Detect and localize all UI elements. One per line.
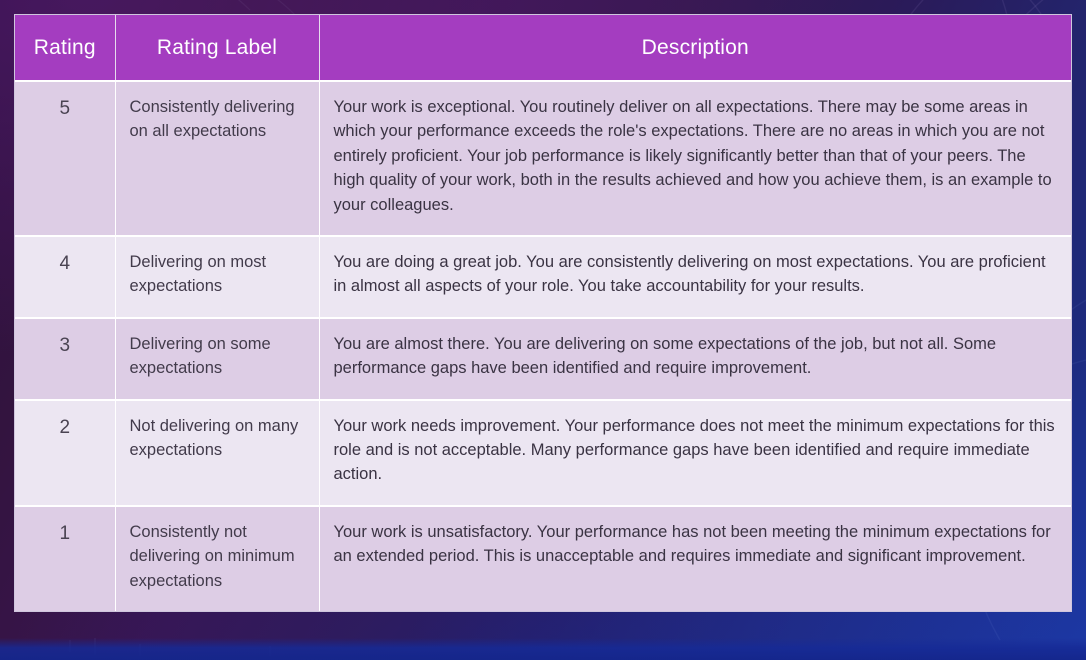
table-row: 4 Delivering on most expectations You ar… (15, 236, 1071, 318)
cell-rating: 1 (15, 506, 115, 611)
cell-rating: 2 (15, 400, 115, 506)
cell-rating-label: Not delivering on many expectations (115, 400, 319, 506)
cell-description: You are doing a great job. You are consi… (319, 236, 1071, 318)
cell-description: Your work is exceptional. You routinely … (319, 81, 1071, 236)
cell-rating-label: Delivering on most expectations (115, 236, 319, 318)
rating-scale-table: Rating Rating Label Description 5 Consis… (15, 15, 1071, 611)
table-row: 5 Consistently delivering on all expecta… (15, 81, 1071, 236)
column-header-description: Description (319, 15, 1071, 81)
cell-rating-label: Consistently not delivering on minimum e… (115, 506, 319, 611)
cell-description: Your work needs improvement. Your perfor… (319, 400, 1071, 506)
table-header-row: Rating Rating Label Description (15, 15, 1071, 81)
cell-rating-label: Consistently delivering on all expectati… (115, 81, 319, 236)
cell-description: Your work is unsatisfactory. Your perfor… (319, 506, 1071, 611)
column-header-rating-label: Rating Label (115, 15, 319, 81)
column-header-rating: Rating (15, 15, 115, 81)
table-row: 3 Delivering on some expectations You ar… (15, 318, 1071, 400)
cell-rating-label: Delivering on some expectations (115, 318, 319, 400)
background-bottom-band (0, 638, 1086, 660)
cell-rating: 3 (15, 318, 115, 400)
cell-description: You are almost there. You are delivering… (319, 318, 1071, 400)
table-row: 1 Consistently not delivering on minimum… (15, 506, 1071, 611)
cell-rating: 4 (15, 236, 115, 318)
table-body: 5 Consistently delivering on all expecta… (15, 81, 1071, 611)
cell-rating: 5 (15, 81, 115, 236)
table-header: Rating Rating Label Description (15, 15, 1071, 81)
rating-scale-table-container: Rating Rating Label Description 5 Consis… (14, 14, 1072, 612)
table-row: 2 Not delivering on many expectations Yo… (15, 400, 1071, 506)
